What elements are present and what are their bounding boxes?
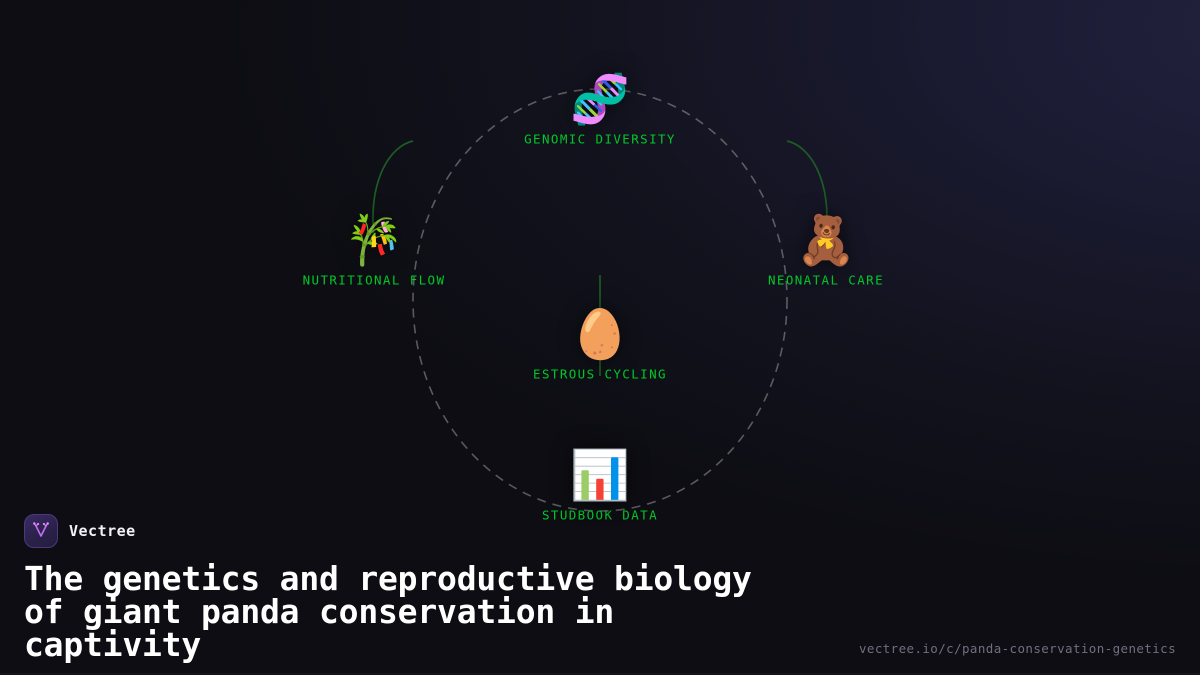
dna-icon: 🧬 (570, 74, 630, 126)
graph-node-neonatal-care[interactable]: 🧸 NEONATAL CARE (706, 215, 946, 288)
graph-node-nutritional-flow[interactable]: 🎋 NUTRITIONAL FLOW (254, 215, 494, 288)
graph-node-label: NUTRITIONAL FLOW (303, 273, 446, 288)
egg-icon: 🥚 (570, 309, 630, 361)
graph-node-estrous-cycling[interactable]: 🥚 ESTROUS CYCLING (480, 309, 720, 382)
brand[interactable]: Vectree (24, 514, 1176, 548)
bar-chart-icon: 📊 (570, 450, 630, 502)
graph-node-label: GENOMIC DIVERSITY (524, 132, 676, 147)
graph-node-label: NEONATAL CARE (768, 273, 884, 288)
teddy-bear-icon: 🧸 (796, 215, 856, 267)
bamboo-tanabata-tree-icon: 🎋 (344, 215, 404, 267)
graph-node-studbook-data[interactable]: 📊 STUDBOOK DATA (480, 450, 720, 523)
page-title: The genetics and reproductive biology of… (24, 562, 884, 661)
source-url: vectree.io/c/panda-conservation-genetics (859, 641, 1176, 656)
brand-name: Vectree (69, 522, 136, 540)
slide-canvas: 🧬 GENOMIC DIVERSITY 🎋 NUTRITIONAL FLOW 🧸… (0, 0, 1200, 675)
graph-node-label: ESTROUS CYCLING (533, 367, 667, 382)
graph-node-genomic-diversity[interactable]: 🧬 GENOMIC DIVERSITY (480, 74, 720, 147)
vectree-logo-icon (24, 514, 58, 548)
